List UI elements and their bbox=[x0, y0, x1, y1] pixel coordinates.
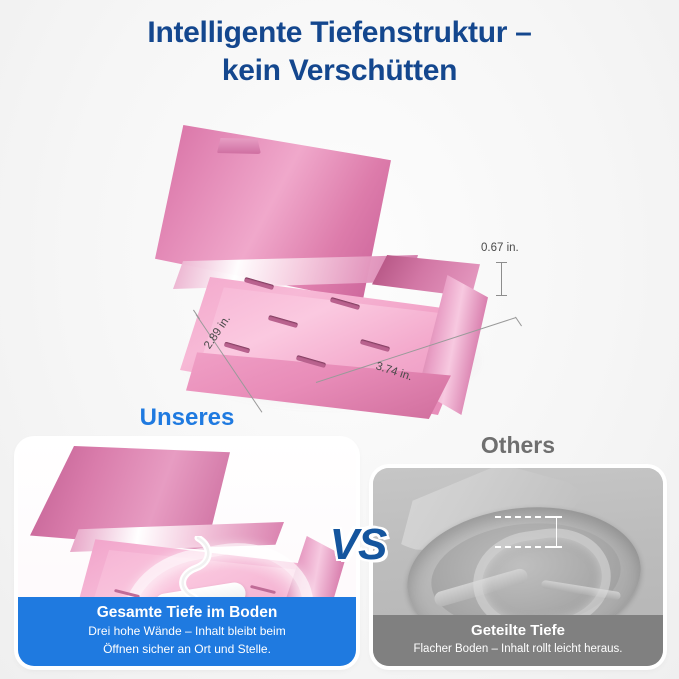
height-caliper-icon bbox=[496, 262, 507, 296]
ours-caption-title: Gesamte Tiefe im Boden bbox=[26, 604, 348, 623]
versus-badge: VS bbox=[318, 520, 398, 570]
hero-product-image bbox=[150, 105, 530, 435]
ours-caption: Gesamte Tiefe im Boden Drei hohe Wände –… bbox=[18, 597, 356, 666]
title-line-1: Intelligente Tiefenstruktur – bbox=[147, 16, 531, 49]
dimension-height-label: 0.67 in. bbox=[481, 242, 519, 254]
infographic-canvas: Intelligente Tiefenstruktur – kein Versc… bbox=[0, 0, 679, 679]
depth-dash-bottom bbox=[495, 546, 551, 548]
others-caption: Geteilte Tiefe Flacher Boden – Inhalt ro… bbox=[373, 615, 663, 666]
others-card: Geteilte Tiefe Flacher Boden – Inhalt ro… bbox=[373, 468, 663, 666]
others-caption-title: Geteilte Tiefe bbox=[381, 622, 655, 640]
ours-card: Gesamte Tiefe im Boden Drei hohe Wände –… bbox=[18, 440, 356, 666]
depth-dash-top bbox=[495, 516, 551, 518]
ours-caption-sub-2: Öffnen sicher an Ort und Stelle. bbox=[26, 642, 348, 657]
ours-caption-sub-1: Drei hohe Wände – Inhalt bleibt beim bbox=[26, 624, 348, 639]
ours-heading: Unseres bbox=[18, 404, 356, 432]
others-heading: Others bbox=[373, 432, 663, 459]
shallow-depth-indicator bbox=[495, 516, 561, 548]
title-line-2: kein Verschütten bbox=[0, 52, 679, 90]
depth-caliper-icon bbox=[556, 516, 557, 548]
page-title: Intelligente Tiefenstruktur – kein Versc… bbox=[0, 14, 679, 90]
case-lid-tab bbox=[217, 138, 261, 154]
others-caption-sub-1: Flacher Boden – Inhalt rollt leicht hera… bbox=[381, 642, 655, 657]
